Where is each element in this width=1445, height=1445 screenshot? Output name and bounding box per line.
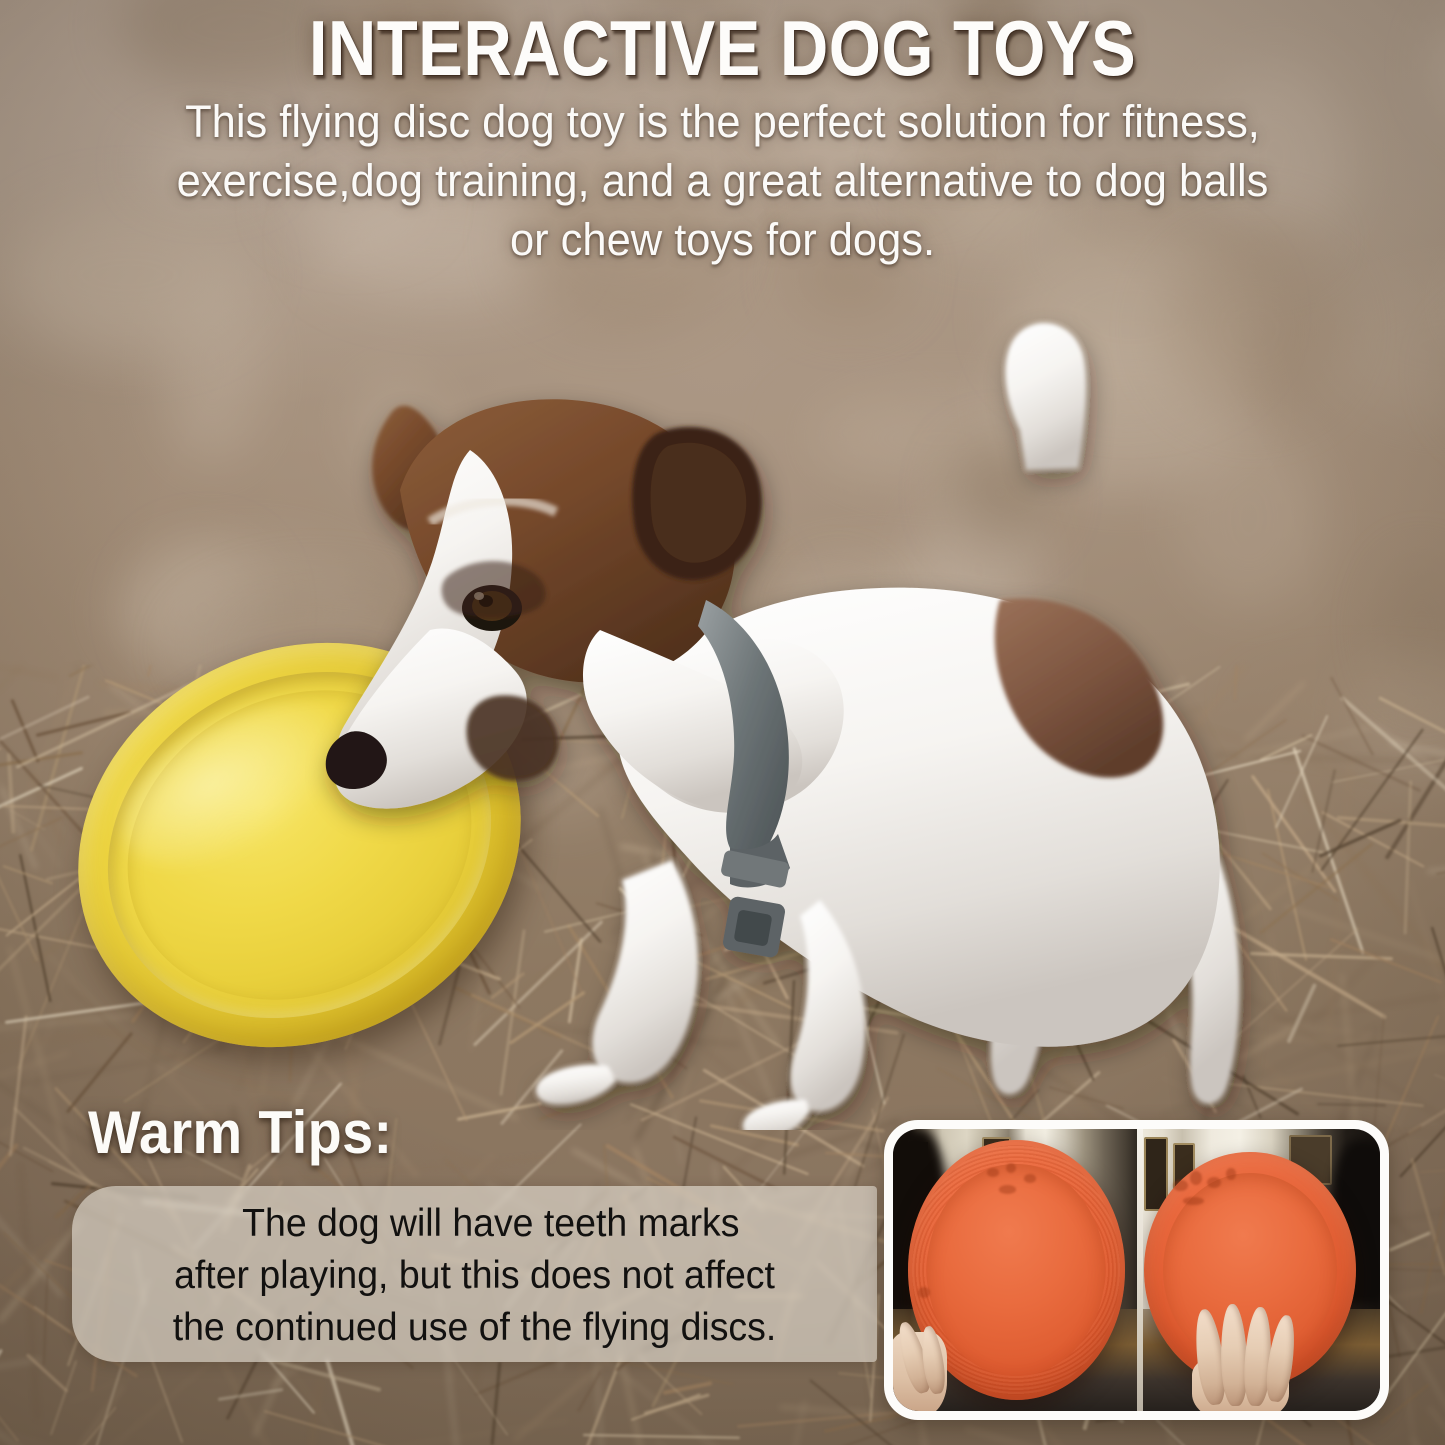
photo-divider <box>1137 1129 1143 1411</box>
dog-svg <box>0 300 1445 1130</box>
page-subtitle: This flying disc dog toy is the perfect … <box>80 93 1364 269</box>
header-block: INTERACTIVE DOG TOYS This flying disc do… <box>0 0 1445 269</box>
teeth-mark <box>987 1168 999 1176</box>
page-title: INTERACTIVE DOG TOYS <box>101 0 1344 85</box>
product-marketing-image: INTERACTIVE DOG TOYS This flying disc do… <box>0 0 1445 1445</box>
teeth-mark <box>918 1287 930 1298</box>
teeth-mark <box>1173 1180 1187 1191</box>
teeth-mark <box>999 1185 1016 1193</box>
inset-photo-inner <box>893 1129 1380 1411</box>
inset-photo-left <box>893 1129 1139 1411</box>
teeth-mark <box>1024 1174 1036 1182</box>
tips-line-3: the continued use of the flying discs. <box>173 1302 777 1354</box>
warm-tips-text: The dog will have teeth marks after play… <box>88 1190 861 1362</box>
inset-photo-panel <box>884 1120 1389 1420</box>
inset-photo-right <box>1139 1129 1380 1411</box>
subtitle-line-1: This flying disc dog toy is the perfect … <box>80 93 1364 152</box>
teeth-mark <box>1006 1163 1016 1173</box>
disc-inner-face <box>927 1164 1105 1377</box>
warm-tips-heading: Warm Tips: <box>88 1098 392 1167</box>
tips-line-2: after playing, but this does not affect <box>174 1250 775 1302</box>
subtitle-line-2: exercise,dog training, and a great alter… <box>80 152 1364 211</box>
teeth-mark <box>1226 1168 1236 1179</box>
dog-illustration <box>0 300 1445 1130</box>
subtitle-line-3: or chew toys for dogs. <box>80 211 1364 270</box>
tips-line-1: The dog will have teeth marks <box>209 1198 739 1250</box>
dog-body-group <box>326 323 1240 1130</box>
